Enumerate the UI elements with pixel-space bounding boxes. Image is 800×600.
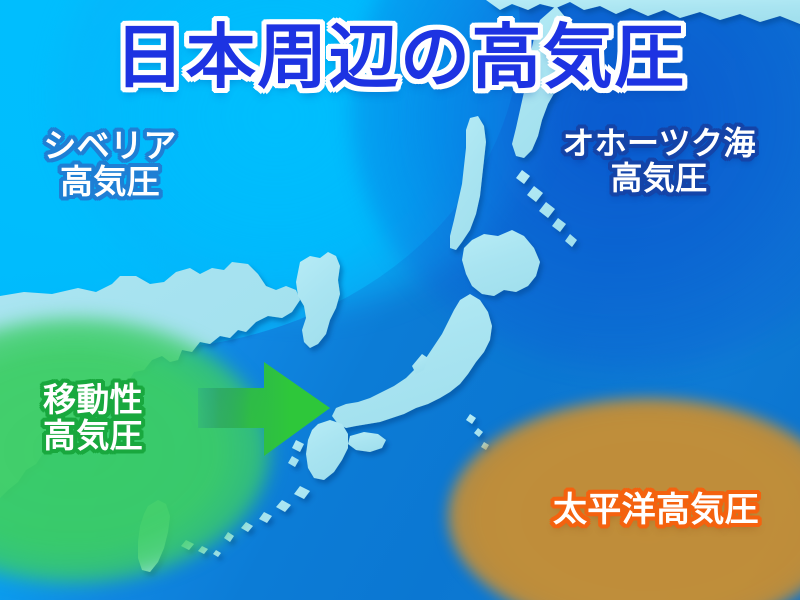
label-migratory-high-line2: 高気圧 xyxy=(8,418,178,454)
label-siberian-high-line2: 高気圧 xyxy=(10,164,210,200)
label-pacific-high: 太平洋高気圧 xyxy=(520,492,792,529)
title-text: 日本周辺の高気圧 xyxy=(0,20,800,96)
sakhalin-island xyxy=(450,116,486,250)
label-okhotsk-high-line2: 高気圧 xyxy=(528,161,790,196)
label-pacific-high-line1: 太平洋高気圧 xyxy=(520,492,792,529)
label-migratory-high: 移動性 高気圧 xyxy=(8,382,178,453)
hokkaido-island xyxy=(462,230,540,296)
label-siberian-high-line1: シベリア xyxy=(10,128,210,164)
weather-map-infographic: 日本周辺の高気圧 シベリア 高気圧 オホーツク海 高気圧 移動性 高気圧 太平洋… xyxy=(0,0,800,600)
label-okhotsk-high: オホーツク海 高気圧 xyxy=(528,126,790,195)
south-islets xyxy=(181,540,221,557)
nansei-islands xyxy=(224,486,310,542)
label-siberian-high: シベリア 高気圧 xyxy=(10,128,210,199)
korean-peninsula xyxy=(296,252,340,348)
shikoku-island xyxy=(348,432,386,452)
izu-islands xyxy=(466,414,489,450)
label-okhotsk-high-line1: オホーツク海 xyxy=(528,126,790,161)
goto-islands xyxy=(288,440,304,467)
honshu-island xyxy=(332,294,492,428)
page-title: 日本周辺の高気圧 xyxy=(0,20,800,96)
kyushu-island xyxy=(306,420,348,480)
label-migratory-high-line1: 移動性 xyxy=(8,382,178,418)
taiwan-island xyxy=(138,500,170,572)
